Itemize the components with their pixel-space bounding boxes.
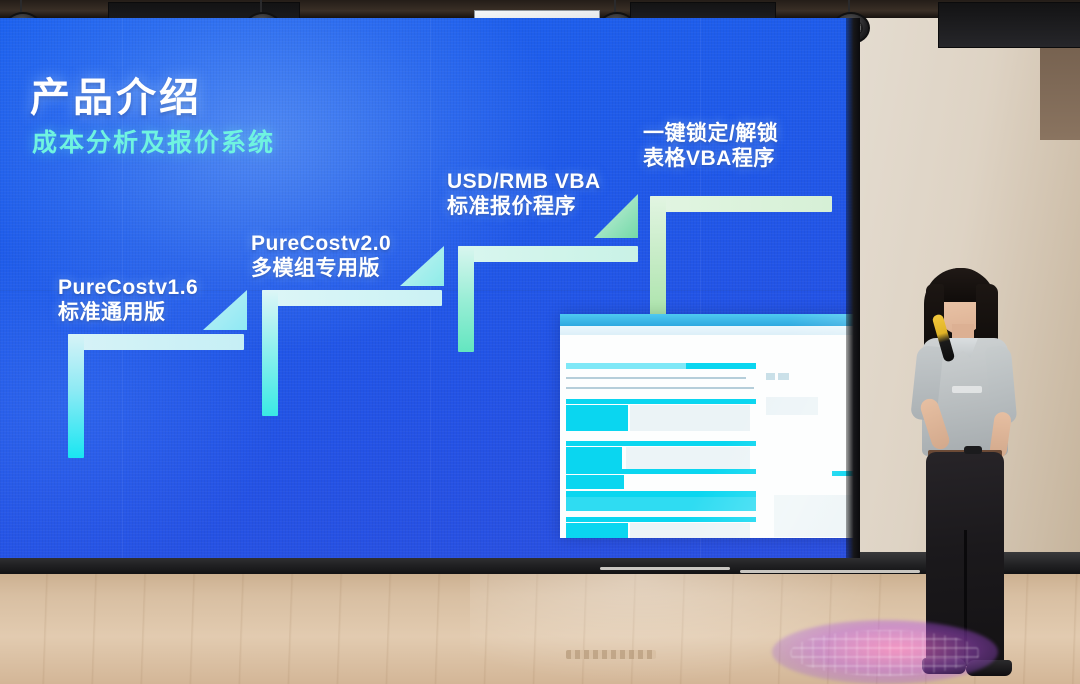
step-4-line2: 表格VBA程序 bbox=[643, 147, 778, 172]
step-2-line1: PureCostv2.0 bbox=[251, 232, 391, 257]
step-2-vertical-leg bbox=[262, 290, 278, 416]
presentation-photo: 产品介绍 成本分析及报价系统 PureCostv1.6 标准通用版 PureCo… bbox=[0, 0, 1080, 684]
spotlight-gobo-pattern bbox=[790, 630, 980, 676]
presenter-shirt-logo bbox=[952, 386, 982, 393]
screen-seam-2 bbox=[430, 18, 431, 558]
step-2-line2: 多模组专用版 bbox=[251, 257, 391, 282]
step-4-line1: 一键锁定/解锁 bbox=[643, 122, 778, 147]
step-1-label: PureCostv1.6 标准通用版 bbox=[58, 276, 198, 326]
step-3-top-bar bbox=[458, 246, 638, 262]
step-4-label: 一键锁定/解锁 表格VBA程序 bbox=[643, 122, 778, 172]
step-3-vertical-leg bbox=[458, 246, 474, 352]
step-3-line2: 标准报价程序 bbox=[447, 195, 601, 220]
step-1-line1: PureCostv1.6 bbox=[58, 276, 198, 301]
spreadsheet-screen-glare bbox=[560, 314, 858, 538]
step-4-vertical-leg bbox=[650, 196, 666, 324]
slide-title: 产品介绍 bbox=[30, 65, 202, 123]
slide-subtitle: 成本分析及报价系统 bbox=[32, 123, 275, 159]
step-1-top-bar bbox=[68, 334, 244, 350]
step-4-top-bar bbox=[650, 196, 832, 212]
presenter-clicker bbox=[964, 446, 982, 454]
ceiling-fixture-3 bbox=[938, 2, 1080, 48]
step-2-label: PureCostv2.0 多模组专用版 bbox=[251, 232, 391, 282]
step-1-vertical-leg bbox=[68, 334, 84, 458]
step-3-label: USD/RMB VBA 标准报价程序 bbox=[447, 170, 601, 220]
floor-vent bbox=[566, 650, 656, 659]
spreadsheet-thumbnail bbox=[560, 314, 858, 538]
floor-cable-2 bbox=[740, 570, 920, 573]
floor-cable-1 bbox=[600, 567, 730, 570]
screen-right-bezel bbox=[846, 18, 860, 558]
step-3-line1: USD/RMB VBA bbox=[447, 170, 601, 195]
step-2-top-bar bbox=[262, 290, 442, 306]
led-screen: 产品介绍 成本分析及报价系统 PureCostv1.6 标准通用版 PureCo… bbox=[0, 18, 858, 558]
step-1-line2: 标准通用版 bbox=[58, 301, 198, 326]
